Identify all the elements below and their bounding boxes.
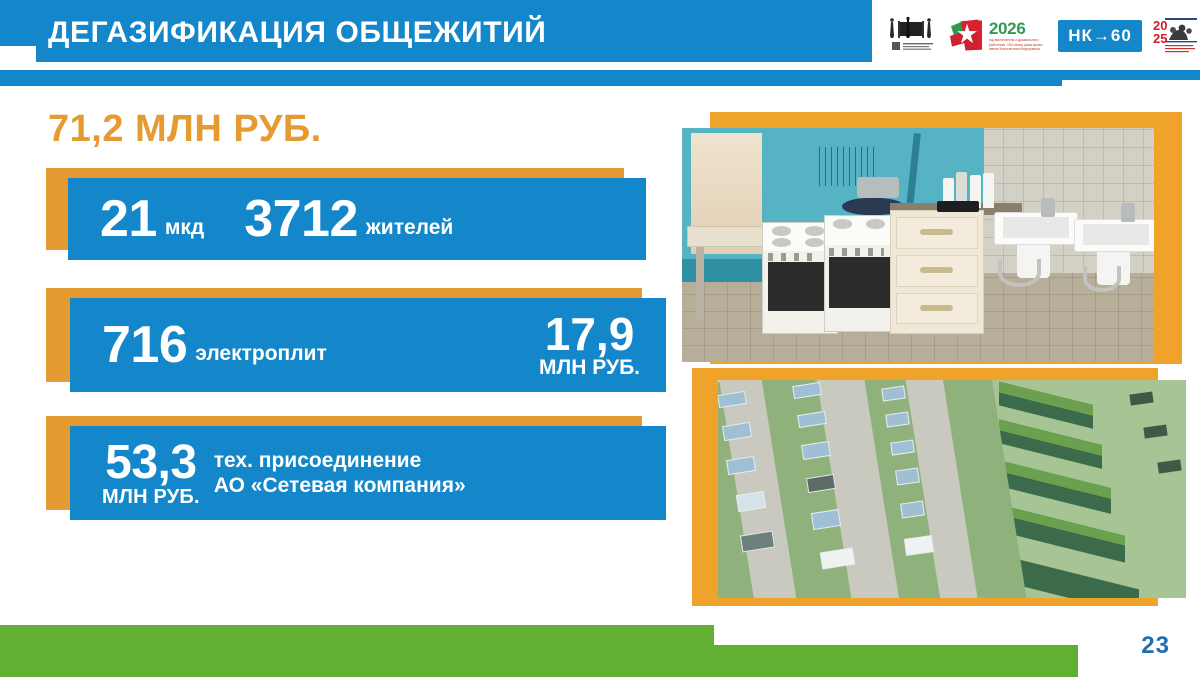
card3-description-line1: тех. присоединение [214,448,466,473]
card-technical-connection: 53,3 МЛН РУБ. тех. присоединение АО «Сет… [46,416,666,520]
photo-apartment-building [692,368,1200,610]
card-apartment-blocks: 21 мкд 3712 жителей [46,168,646,260]
card3-unit-amount: МЛН РУБ. [102,487,200,507]
nk-60-badge: НК→60 [1058,20,1142,52]
card3-description: тех. присоединение АО «Сетевая компания» [214,448,466,498]
footer-bar-right [714,645,1078,677]
header-strip [0,70,1062,86]
header-notch [0,46,36,62]
card1-value-residents: 3712 [244,193,358,245]
page-number: 23 [1141,632,1170,660]
card3-amount-group: 53,3 МЛН РУБ. [102,439,200,507]
total-amount: 71,2 МЛН РУБ. [48,108,322,151]
card2-value-amount: 17,9 [545,311,635,357]
slide-root: ДЕГАЗИФИКАЦИЯ ОБЩЕЖИТИЙ [0,0,1200,677]
logo-2026-year: 2026 [989,20,1049,37]
photo-communal-kitchen [682,112,1200,382]
card2-unit-amount: МЛН РУБ. [539,357,640,379]
svg-text:25: 25 [1153,31,1167,46]
page-title: ДЕГАЗИФИКАЦИЯ ОБЩЕЖИТИЙ [48,16,546,50]
card2-left-group: 716 электроплит [102,319,327,371]
card-blue-panel: 53,3 МЛН РУБ. тех. присоединение АО «Сет… [70,426,666,520]
card3-description-line2: АО «Сетевая компания» [214,473,466,498]
card-blue-panel: 21 мкд 3712 жителей [68,178,646,260]
photo-image-kitchen [682,128,1154,362]
card1-unit-residents: жителей [366,217,453,238]
header-strip-step [1062,70,1200,80]
card2-value-stoves: 716 [102,319,187,371]
photo-image-building [718,380,1186,598]
year-2026-emblem-icon: 2026 год воспитателя и дошкольного работ… [949,17,1049,55]
logo-row: 2026 год воспитателя и дошкольного работ… [884,10,1196,62]
card2-unit-stoves: электроплит [195,343,327,364]
card2-right-group: 17,9 МЛН РУБ. [539,311,640,379]
card-electric-stoves: 716 электроплит 17,9 МЛН РУБ. [46,288,666,392]
card1-value-mkd: 21 [100,193,157,245]
year-2025-emblem-icon: 20 25 [1151,14,1199,58]
footer-bar-left [0,625,714,677]
card1-unit-mkd: мкд [165,217,204,238]
card3-value-amount: 53,3 [105,439,196,487]
ministry-emblem-icon [884,16,940,56]
card-blue-panel: 716 электроплит 17,9 МЛН РУБ. [70,298,666,392]
logo-2026-caption: год воспитателя и дошкольного работника,… [989,38,1049,52]
